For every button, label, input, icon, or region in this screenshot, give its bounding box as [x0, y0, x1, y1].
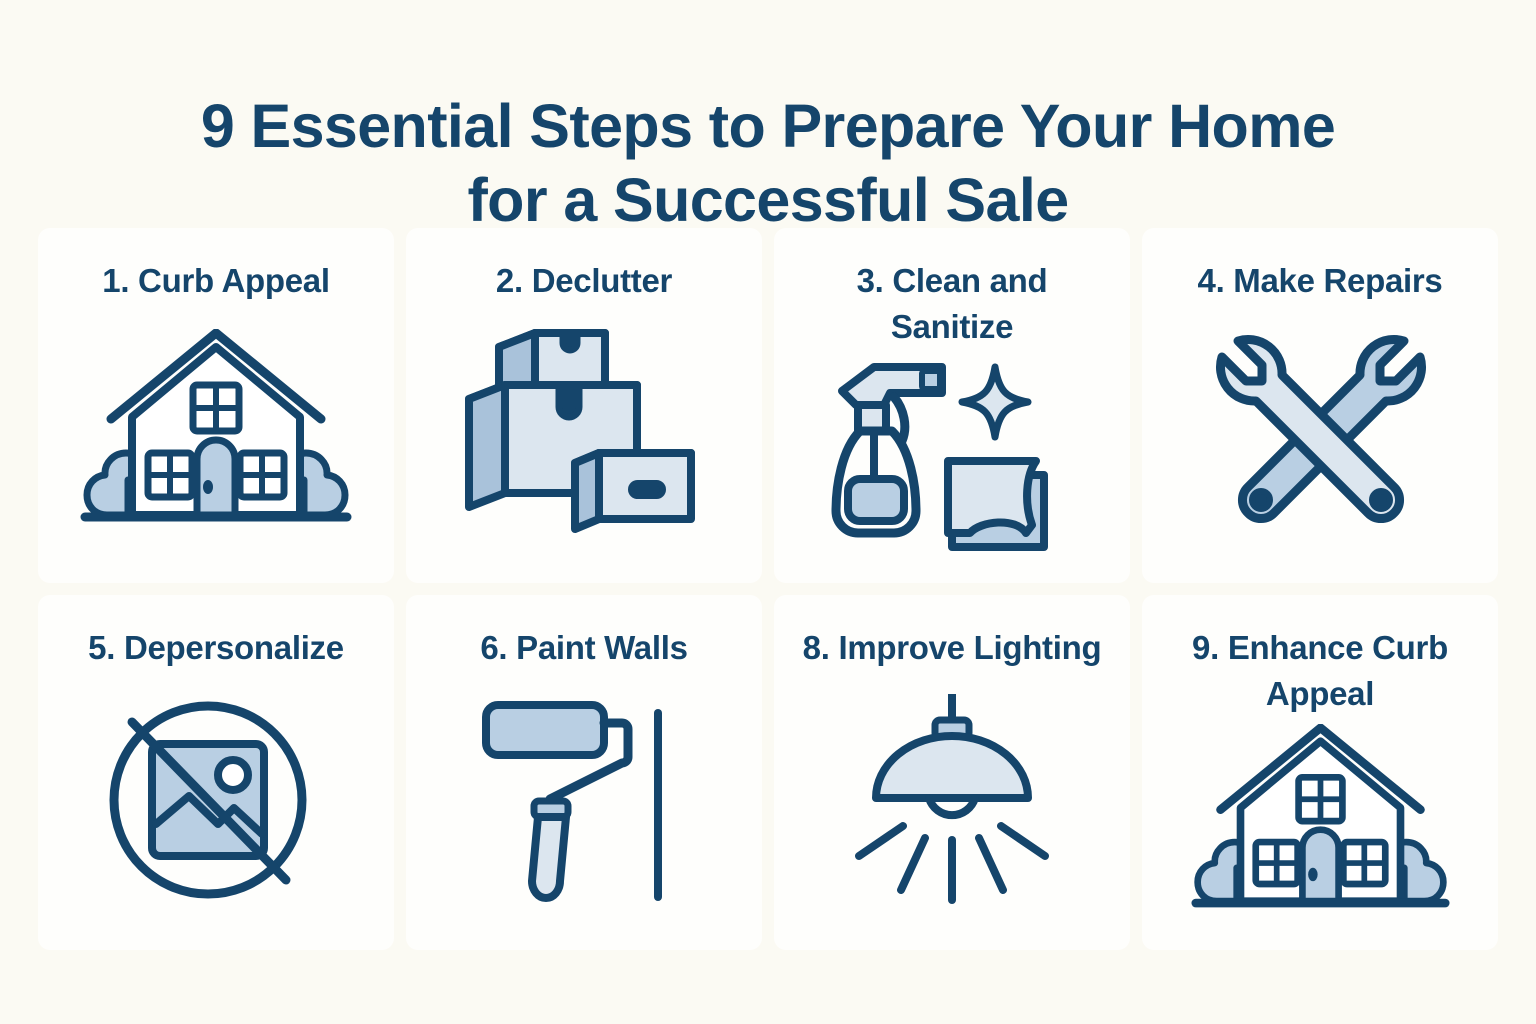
step-card-1-title-line-1: 1. Curb Appeal — [102, 262, 329, 299]
step-card-5[interactable]: 5. Depersonalize — [38, 595, 394, 950]
steps-grid: 1. Curb Appeal — [38, 228, 1498, 950]
step-card-3-title-line-2: Sanitize — [891, 308, 1013, 345]
step-card-8-title-line-1: 8. Improve Lighting — [803, 629, 1102, 666]
step-card-3-title-line-1: 3. Clean and — [857, 262, 1048, 299]
step-card-2-title-line-1: 2. Declutter — [496, 262, 672, 299]
infographic-page: 9 Essential Steps to Prepare Your Home f… — [0, 0, 1536, 1024]
step-card-3-title: 3. Clean and Sanitize — [790, 258, 1114, 349]
step-card-9[interactable]: 9. Enhance Curb Appeal — [1142, 595, 1498, 950]
step-card-6-title-line-1: 6. Paint Walls — [480, 629, 687, 666]
step-card-1[interactable]: 1. Curb Appeal — [38, 228, 394, 583]
crossed-wrenches-icon — [1158, 308, 1482, 561]
step-card-4[interactable]: 4. Make Repairs — [1142, 228, 1498, 583]
page-title: 9 Essential Steps to Prepare Your Home f… — [0, 89, 1536, 238]
step-card-4-title-line-1: 4. Make Repairs — [1198, 262, 1443, 299]
no-photo-icon — [54, 675, 378, 928]
step-card-9-title-line-2: Appeal — [1266, 675, 1374, 712]
step-card-9-title-line-1: 9. Enhance Curb — [1192, 629, 1448, 666]
step-card-6-title: 6. Paint Walls — [422, 625, 746, 671]
step-card-9-title: 9. Enhance Curb Appeal — [1158, 625, 1482, 716]
step-card-3[interactable]: 3. Clean and Sanitize — [774, 228, 1130, 583]
step-card-4-title: 4. Make Repairs — [1158, 258, 1482, 304]
step-card-6[interactable]: 6. Paint Walls — [406, 595, 762, 950]
pendant-lamp-icon — [790, 675, 1114, 928]
page-title-line-1: 9 Essential Steps to Prepare Your Home — [110, 89, 1426, 163]
stacked-moving-boxes-icon — [422, 308, 746, 561]
step-card-2[interactable]: 2. Declutter — [406, 228, 762, 583]
page-title-line-2: for a Successful Sale — [110, 163, 1426, 237]
house-with-bushes-icon — [1158, 720, 1482, 928]
step-card-8[interactable]: 8. Improve Lighting — [774, 595, 1130, 950]
step-card-5-title-line-1: 5. Depersonalize — [88, 629, 344, 666]
spray-bottle-and-cloth-icon — [790, 353, 1114, 561]
step-card-8-title: 8. Improve Lighting — [790, 625, 1114, 671]
step-card-1-title: 1. Curb Appeal — [54, 258, 378, 304]
paint-roller-icon — [422, 675, 746, 928]
step-card-2-title: 2. Declutter — [422, 258, 746, 304]
step-card-5-title: 5. Depersonalize — [54, 625, 378, 671]
house-with-bushes-icon — [54, 308, 378, 561]
